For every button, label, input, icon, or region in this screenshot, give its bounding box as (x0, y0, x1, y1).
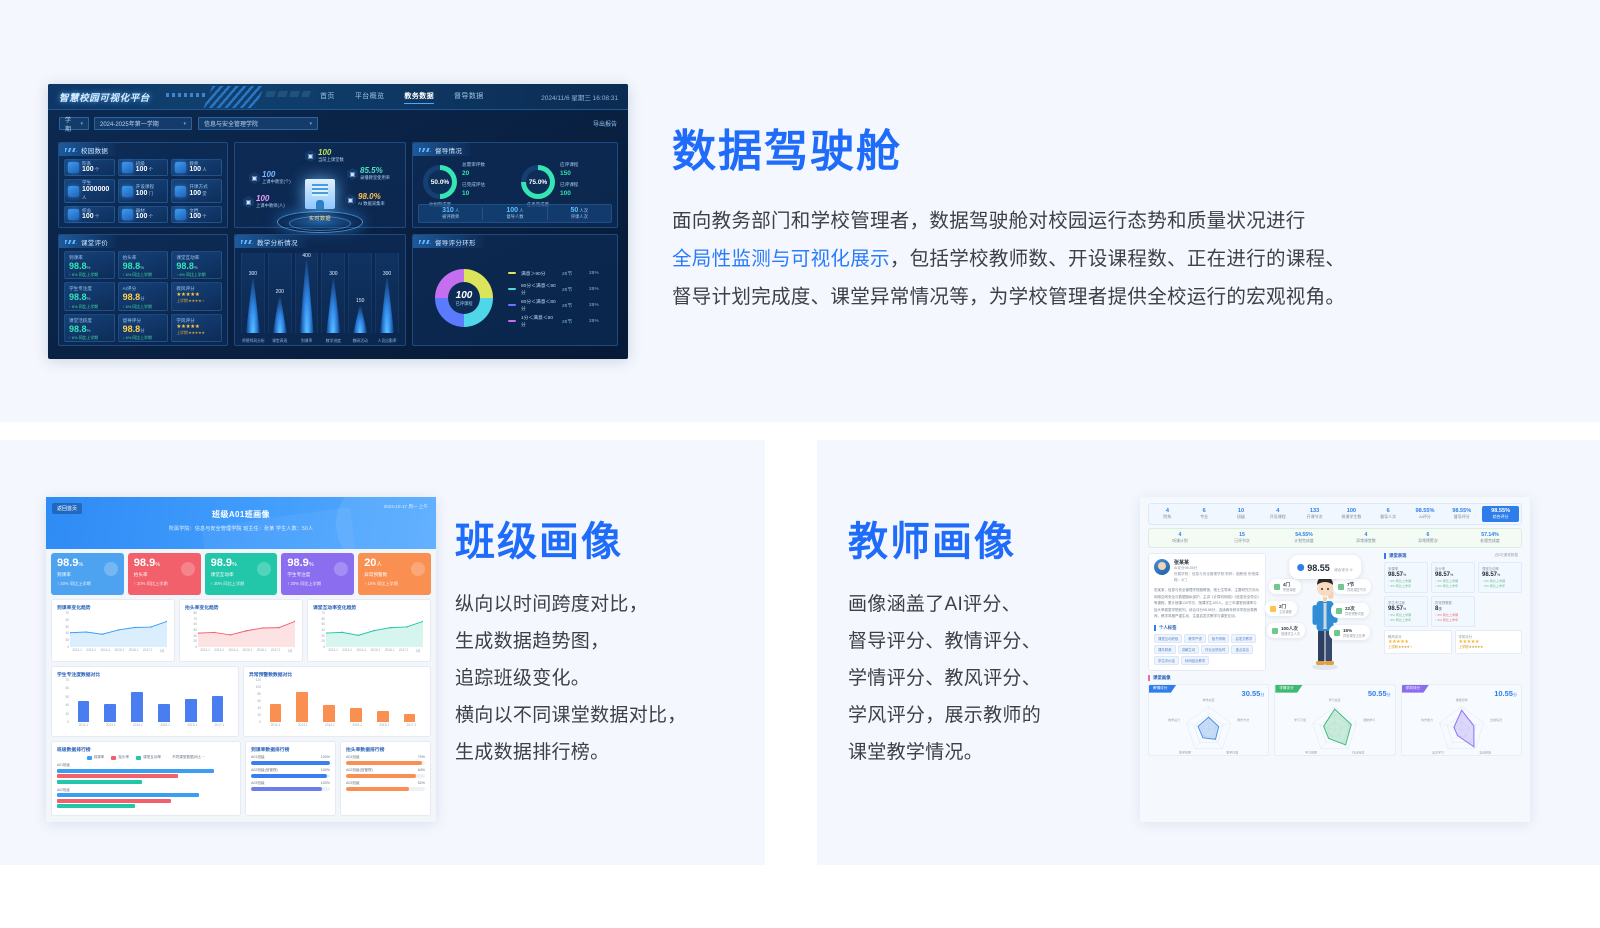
filter-label: 信息与安全管理学院 (204, 119, 258, 128)
progress-track[interactable] (346, 761, 425, 765)
previous-star-rating: 上学期 ★★★★★ (176, 330, 221, 336)
chip-label: 异常课堂占比率 (1343, 633, 1365, 638)
x-tick-label: 2014.1 (133, 723, 143, 727)
gauge-kv-key: 已评课程 (560, 182, 578, 189)
radar-card-row: 教情评分30.55分教学态度教学方法教学内容教学效果教学设计学情评分50.55分… (1148, 684, 1522, 756)
class-kpi-card: 98.9%学生专注度↑ 20% 同比上学期 (281, 553, 354, 595)
legend-name: 80分＜满意＜90分 (521, 282, 557, 296)
bar (212, 696, 224, 722)
y-tick-label: 70 (65, 611, 69, 615)
radar-card: 学风评分10.55分课堂纪律出勤情况互动积极自主学习协作能力 (1401, 684, 1522, 756)
stat-label: 处理完成度 (1459, 538, 1521, 544)
teacher-metric-card: 学生专注度98.57%↑ 5% 同比上学期↑ 5% 同比上学年 (1384, 596, 1428, 627)
metrics-subtitle: 近5次课堂数据 (1494, 553, 1522, 559)
metric-value: 98.57% (1388, 605, 1424, 613)
previous-star-rating: 上学期 ★★★★☆ (1388, 645, 1448, 650)
section-teacher-portrait-text: 教师画像 画像涵盖了AI评分、 督导评分、教情评分、 学情评分、教风评分、 学风… (848, 520, 1128, 771)
dashboard-nav-item[interactable]: 督导数据 (454, 91, 484, 104)
radar-card: 学情评分50.55分学习态度课堂参与作业完成学习效果学习习惯 (1274, 684, 1395, 756)
evaluation-value: 98.8% (176, 261, 221, 272)
y-axis: 70605040300 (57, 680, 70, 722)
hbar-group-label: A01班级 (57, 762, 235, 767)
campus-stat-unit: 人 (201, 167, 207, 172)
spike-bar (300, 260, 314, 333)
trend-icon (1336, 608, 1342, 614)
rank-chart-card: 班级数据排行榜到课率抬头率课堂互动率不同课堂数据对比 ···A01班级A02班级 (51, 741, 241, 816)
previous-star-rating: 上学期 ★★★★☆ (176, 298, 221, 304)
vertical-bar-chart: 1201008060402002012.12013.12014.12015.12… (249, 680, 425, 732)
realtime-tag-value: 100 (318, 149, 344, 157)
legend-swatch (111, 756, 116, 760)
x-tick-label: 2017.1 (143, 648, 153, 652)
metric-value: 98.57% (1482, 571, 1518, 579)
evaluation-value: 98.8% (69, 324, 114, 335)
delta-arrow: ↑ 6% 同比上学期 (69, 304, 98, 309)
teacher-portrait-screenshot: 4院系6专业10班级4开设课程133开课节次100授课学生数6督导人次98.55… (1140, 497, 1530, 822)
teacher-tag: 课堂互动积极 (1154, 634, 1182, 643)
supervision-stat: 310 人被评教师 (419, 207, 483, 220)
filter-select[interactable]: 学期▾ (59, 117, 89, 130)
y-tick-label: 40 (321, 628, 325, 632)
realtime-tag-label: 录播教室使用率 (360, 175, 390, 181)
chart-title: 班级数据排行榜 (57, 746, 235, 753)
evaluation-value: 98.8% (69, 261, 114, 272)
spike-value: 300 (383, 271, 391, 277)
y-tick-label: 40 (65, 631, 69, 635)
paragraph-line-1: 面向教务部门和学校管理者，数据驾驶舱对校园运行态势和质量状况进行 (672, 202, 1512, 240)
paragraph-line: 生成数据趋势图， (455, 623, 765, 660)
x-tick-label: 2014.1 (100, 648, 110, 652)
metric-card-grid: 到课率98.57%↑ 5% 同比上学期↑ 5% 同比上学年抬头率98.57%↑ … (1384, 562, 1522, 627)
campus-stat-unit: 个 (147, 167, 153, 172)
progress-percent: 100% (321, 781, 330, 786)
metric-delta-year: ↑ 5% 同比上学年 (1388, 584, 1424, 589)
donut-legend-row: 80分＜满意＜90分25节25% (508, 281, 611, 297)
bar-group (70, 682, 231, 722)
x-axis: 2012.12013.12014.12015.12016.12017.11月 (326, 648, 425, 657)
progress-track[interactable] (251, 761, 330, 765)
progress-track[interactable] (251, 787, 330, 791)
spike-column: 300教学进度 (321, 253, 345, 333)
teacher-center-visual: 98.55 综合评分 ① (1271, 553, 1379, 671)
gauge-kv: 应评课程150已评课程100 (560, 162, 578, 201)
progress-percent: 100% (321, 755, 330, 760)
y-tick-label: 30 (321, 634, 325, 638)
legend-item: 课堂互动率 (136, 755, 161, 760)
title-marker-icon (241, 240, 253, 244)
teacher-top-stat: 6督导人次 (1370, 508, 1407, 521)
metric-unit: % (1450, 573, 1453, 577)
spike-category: 到课率 (296, 339, 318, 344)
export-report-button[interactable]: 导出报告 (593, 119, 617, 128)
spike-value: 200 (276, 289, 284, 295)
gauge-kv-key: 已完成评估 (462, 182, 485, 189)
lock-icon: ▣ (345, 194, 356, 206)
realtime-tag-body: 85.5%录播教室使用率 (360, 167, 390, 181)
evaluation-delta: ↑ 6% 同比上学期 (176, 272, 221, 278)
score-badge: 98.55 综合评分 ① (1289, 555, 1361, 579)
progress-top: A02班级(信管院)64% (346, 768, 425, 773)
evaluation-delta: ↑ 6% 同比上学期 (123, 272, 168, 278)
chip-label: 异常课堂节次 (1347, 587, 1366, 592)
evaluation-stat-grid: 到课率98.8%↑ 6% 同比上学期抬头率98.8%↑ 6% 同比上学期课堂互动… (64, 251, 222, 341)
star-card-grid: 教风评分★★★★★上学期 ★★★★☆学风评分★★★★★上学期 ★★★★★ (1384, 630, 1522, 654)
y-tick-label: 50 (65, 695, 69, 699)
bar-slot (70, 682, 97, 722)
hbar (57, 804, 135, 808)
paragraph-line-2-rest: ，包括学校教师数、开设课程数、正在进行的课程、 (890, 248, 1345, 270)
y-tick-label: 50 (321, 622, 325, 626)
kpi-unit: % (232, 562, 237, 568)
panel-title: 教学分析情况 (235, 235, 306, 248)
campus-stat-value: 100 个 (189, 213, 206, 221)
stat-label: 授课学生数 (1333, 514, 1370, 520)
campus-stat-unit: 个 (94, 167, 100, 172)
gauge-wrap: 75.0%任务完成度应评课程150已评课程100 (515, 160, 613, 204)
delta-arrow: ↓ 6% 同比上学期 (123, 335, 152, 340)
chip-label: 异常预警次数 (1345, 611, 1364, 616)
realtime-label: 实时数据 (309, 215, 331, 222)
progress-top: A01班级70% (346, 755, 425, 760)
disc-icon (122, 209, 133, 220)
stat-label: 计划完成度 (1273, 538, 1335, 544)
teacher-top-stat: 6专业 (1186, 508, 1223, 521)
progress-row: A02班级(信管院)100% (251, 768, 330, 778)
bar-slot (316, 682, 343, 722)
title-marker-icon (419, 148, 431, 152)
realtime-tag-label: 上课中教师(人) (256, 203, 285, 209)
decor-dashes (166, 93, 206, 97)
gauge-percent: 50.0% (431, 179, 449, 186)
svg-text:教学设计: 教学设计 (1168, 716, 1180, 721)
x-tick-label: 2012.1 (200, 648, 210, 652)
chip-label: 授课学生人次 (1281, 631, 1300, 636)
kpi-delta: ↑ 20% 同比上学期 (211, 581, 278, 587)
y-tick-label: 70 (65, 678, 69, 682)
filter-select[interactable]: 2024-2025年第一学期▾ (94, 117, 192, 130)
x-tick-label: 2015.1 (371, 648, 381, 652)
score-label: 综合评分 ① (1334, 568, 1353, 572)
gauge-ring: 50.0%计划完成度 (423, 165, 457, 199)
supervision-stat-value: 50 人次 (548, 207, 611, 214)
radar-chart: 学习态度课堂参与作业完成学习效果学习习惯 (1275, 697, 1394, 756)
progress-fill (346, 761, 422, 765)
x-tick-label: 2016.1 (379, 723, 389, 727)
x-tick-label: 2014.1 (356, 648, 366, 652)
teacher-metric-card: 到课率98.57%↑ 5% 同比上学期↑ 5% 同比上学年 (1384, 562, 1428, 593)
progress-top: A03班级52% (346, 781, 425, 786)
teacher-top-stat: 98.55%督导评分 (1443, 508, 1480, 521)
chart-title: 异常预警数数据对比 (249, 671, 425, 678)
dashboard-nav[interactable]: 首页平台概览教务数据督导数据 (320, 91, 484, 104)
x-tick-label: 2017.1 (407, 723, 417, 727)
dashboard-filter-bar[interactable]: 导出报告 学期▾2024-2025年第一学期▾信息与安全管理学院▾ (48, 110, 628, 136)
x-tick-label: 2016.1 (385, 648, 395, 652)
progress-row: A01班级100% (251, 755, 330, 765)
teacher-name: 张某某 (1174, 559, 1260, 566)
teacher-star-card: 教风评分★★★★★上学期 ★★★★☆ (1384, 630, 1452, 654)
dashboard-nav-item[interactable]: 教务数据 (404, 91, 434, 104)
y-tick-label: 20 (257, 713, 261, 717)
bar (104, 704, 116, 722)
campus-stat-value: 100 人 (189, 166, 206, 174)
hbar (57, 774, 178, 778)
panel-title-text: 校园数据 (81, 145, 108, 155)
chevron-down-icon: ▾ (309, 121, 312, 127)
chart-title: 到课率变化趋势 (57, 604, 169, 611)
teacher-top-stat-secondary: 4异常课堂数 (1335, 532, 1397, 544)
stat-label: 班级 (1223, 514, 1260, 520)
spike-value: 300 (329, 271, 337, 277)
campus-stat-text: 校舍100 个 (82, 208, 99, 221)
previous-star-rating: 上学期 ★★★★★ (1459, 645, 1519, 650)
chip-value: 100人次 (1281, 626, 1300, 631)
teacher-tag: 作业反馈及时 (1201, 645, 1229, 654)
teacher-top-stat: 4院系 (1149, 508, 1186, 521)
bar-group (262, 682, 423, 722)
gauge-wrap: 50.0%计划完成度总需审评数20已完成评估10 (417, 160, 515, 204)
x-tick-label: 2013.1 (342, 648, 352, 652)
chip-body: 15%异常课堂占比率 (1343, 628, 1365, 638)
donut-legend-row: 60分＜满意＜80分25节25% (508, 297, 611, 313)
donut-center-label: 100已评课程 (435, 269, 493, 327)
y-tick-label: 50 (193, 628, 197, 632)
pulse-icon (411, 562, 425, 576)
gauge-kv-value: 150 (560, 169, 578, 179)
radar-chart: 课堂纪律出勤情况互动积极自主学习协作能力 (1402, 697, 1521, 756)
supervision-stat-unit: 人 (454, 208, 460, 213)
evaluation-cell: 抬头率98.8%↑ 6% 同比上学期 (118, 251, 169, 279)
teacher-tag: 启发式教学 (1231, 634, 1256, 643)
legend-percent: 25% (589, 271, 611, 276)
stat-label: 听课计划 (1149, 538, 1211, 544)
chart-title: 抬头率变化趋势 (185, 604, 297, 611)
x-tick-label: 2016.1 (129, 648, 139, 652)
evaluation-delta: ↓ 6% 同比上学期 (123, 335, 168, 341)
y-tick-label: 30 (193, 639, 197, 643)
section-3-title: 教师画像 (848, 520, 1128, 564)
progress-row: A02班级(信管院)64% (346, 768, 425, 778)
y-tick-label: 40 (257, 706, 261, 710)
bar-slot (204, 682, 231, 722)
realtime-tag-body: 100上课中教师(人) (256, 195, 285, 209)
plot-area (70, 682, 231, 722)
chevron-down-icon: ▾ (80, 121, 83, 127)
stat-label: AI评分 (1407, 514, 1444, 520)
chart-title: 课堂互动率变化趋势 (313, 604, 425, 611)
kpi-delta: ↑ 20% 同比上学期 (287, 581, 354, 587)
teacher-icon (175, 162, 186, 173)
line-area-chart: 706050403002012.12013.12014.12015.12016.… (57, 613, 169, 657)
section-1-title: 数据驾驶舱 (672, 128, 1512, 176)
teacher-metric-chip: 4门所授课程 (1269, 579, 1301, 594)
teacher-top-stat-secondary: 57.14%处理完成度 (1459, 532, 1521, 544)
y-axis: 8070605040300 (185, 613, 198, 647)
gauge-kv-key: 总需审评数 (462, 162, 485, 169)
spike-bar-chart: 300师德师风分析200课堂表现400到课率300教学进度150教研活动300人… (241, 253, 399, 333)
y-tick-label: 30 (65, 712, 69, 716)
class-bar-row: 学生专注度数据对比706050403002012.12013.12014.120… (46, 662, 436, 737)
section-class-portrait-text: 班级画像 纵向以时间跨度对比， 生成数据趋势图， 追踪班级变化。 横向以不同课堂… (455, 520, 765, 771)
stat-label: 已评节次 (1211, 538, 1273, 544)
bar-slot (177, 682, 204, 722)
lock-icon: ▣ (305, 150, 316, 162)
realtime-tag-body: 100当前上课堂数 (318, 149, 344, 163)
svg-text:作业完成: 作业完成 (1353, 749, 1365, 754)
campus-stat-value: 1000000 人 (82, 186, 114, 202)
supervision-stat-value: 100 人 (483, 207, 546, 214)
section-3-paragraph: 画像涵盖了AI评分、 督导评分、教情评分、 学情评分、教风评分、 学风评分，展示… (848, 586, 1128, 771)
stat-label: 专业 (1186, 514, 1223, 520)
stat-label: 开课节次 (1296, 514, 1333, 520)
class-kpi-card: 20人异常预警数↑ 10% 同比上学期 (358, 553, 431, 595)
evaluation-unit: 分 (140, 296, 144, 301)
teacher-metric-chip: 7节异常课堂节次 (1333, 579, 1371, 594)
progress-label: A02班级(信管院) (346, 768, 373, 773)
delta-arrow: ↑ 6% 同比上学期 (69, 335, 98, 340)
x-tick-label: 2012.1 (72, 648, 82, 652)
progress-track[interactable] (346, 774, 425, 778)
legend-swatch (87, 756, 92, 760)
trend-icon (1274, 584, 1280, 590)
legend-percent: 25% (589, 287, 611, 292)
realtime-tag: ▣98.0%AI 数据采集率 (345, 193, 385, 207)
x-tick-label: 2014.1 (228, 648, 238, 652)
teacher-star-card: 学风评分★★★★★上学期 ★★★★★ (1455, 630, 1523, 654)
filter-select[interactable]: 信息与安全管理学院▾ (198, 117, 318, 130)
realtime-tag-value: 98.0% (358, 193, 385, 201)
trend-chart-card: 到课率变化趋势706050403002012.12013.12014.12015… (51, 599, 175, 662)
legend-label: 到课率 (94, 755, 105, 760)
chip-label: 主讲课程 (1279, 609, 1292, 614)
progress-label: A01班级 (346, 755, 360, 760)
evaluation-value: 98.8% (69, 292, 114, 303)
hbar (57, 769, 214, 773)
evaluation-value: 98.8分 (123, 292, 168, 303)
campus-stat-value: 100 门 (136, 190, 154, 198)
metric-delta-year: ↑ 5% 同比上学年 (1435, 584, 1471, 589)
profile-header: 张某某 AI评分98.55分 所属学院：信息与安全管理学院 职称：副教授 所授课… (1154, 559, 1260, 583)
evaluation-cell: AI评分98.8分↑ 6% 同比上学期 (118, 282, 169, 310)
evaluation-delta: ↑ 6% 同比上学期 (69, 304, 114, 310)
stat-label: 综合评分 (1482, 514, 1519, 520)
gauge-hole: 75.0% (526, 170, 550, 194)
x-tick-label: 2017.1 (399, 648, 409, 652)
progress-fill (251, 787, 322, 791)
dashboard-nav-item[interactable]: 平台概览 (355, 91, 385, 104)
stat-label: 开设课程 (1259, 514, 1296, 520)
spike-category: 教学进度 (322, 339, 344, 344)
paragraph-line: 生成数据排行榜。 (455, 734, 765, 771)
svg-text:协作能力: 协作能力 (1421, 716, 1433, 721)
chip-body: 22次异常预警次数 (1345, 606, 1364, 616)
y-tick-label: 60 (257, 699, 261, 703)
evaluation-cell: 到课率98.8%↑ 6% 同比上学期 (64, 251, 115, 279)
teacher-top-stat-secondary: 4听课计划 (1149, 532, 1211, 544)
metric-unit: 次 (1438, 607, 1442, 611)
bar-slot (342, 682, 369, 722)
panel-class-evaluation: 课堂评价 到课率98.8%↑ 6% 同比上学期抬头率98.8%↑ 6% 同比上学… (58, 234, 228, 346)
paragraph-line: 学风评分，展示教师的 (848, 697, 1128, 734)
y-tick-label: 70 (321, 611, 325, 615)
progress-track[interactable] (346, 787, 425, 791)
stat-label: 督导评分 (1443, 514, 1480, 520)
teacher-top-stats-secondary: 4听课计划15已评节次54.55%计划完成度4异常课堂数6异常预警次57.14%… (1148, 528, 1522, 548)
teacher-meta-2: 所属学院：信息与安全管理学院 职称：副教授 所授课程：4门 (1174, 572, 1260, 584)
x-tick-label: 1月 (415, 648, 420, 653)
class-kpi-row: 98.9%到课率↑ 20% 同比上学期98.9%抬头率↑ 20% 同比上学期98… (46, 549, 436, 595)
legend-label: 抬头率 (118, 755, 129, 760)
teacher-tag: 课件精美 (1154, 645, 1176, 654)
metric-unit: % (1403, 573, 1406, 577)
class-portrait-screenshot: 返回首页 班级A01班画像 所属学院：信息与安全管理学院 班主任：张某 学生人数… (46, 497, 436, 822)
class-hero-date: 2024-10-17 周一 上午 (384, 504, 428, 510)
radar-flag: 学情评分 (1275, 685, 1302, 693)
teacher-top-stat: 133开课节次 (1296, 508, 1333, 521)
paragraph-line: 学情评分、教风评分、 (848, 660, 1128, 697)
book-icon (122, 186, 133, 197)
realtime-tag-value: 85.5% (360, 167, 390, 175)
box-icon (122, 162, 133, 173)
tag-section-title: 个人标签 (1154, 625, 1260, 631)
campus-stat-value: 100 堂 (189, 190, 207, 198)
x-tick-label: 2017.1 (271, 648, 281, 652)
kpi-unit: 人 (376, 562, 382, 568)
supervision-stat-label: 被评教师 (419, 214, 482, 220)
vertical-bar-chart: 706050403002012.12013.12014.12015.12016.… (57, 680, 233, 732)
column-gap (765, 440, 817, 865)
gauge-kv-value: 10 (462, 189, 485, 199)
spike-bar (273, 297, 287, 333)
legend-count: 25节 (562, 270, 584, 277)
radar-flag: 学风评分 (1402, 685, 1429, 693)
x-tick-label: 2015.1 (160, 723, 170, 727)
campus-stat-cell: 学生1000000 人 (64, 179, 115, 202)
delta-arrow: ↑ 6% 同比上学期 (123, 272, 152, 277)
stat-label: 异常预警次 (1397, 538, 1459, 544)
legend-name: 1分＜满意＜60分 (521, 314, 557, 328)
supervision-stat-value: 310 人 (419, 207, 482, 214)
svg-text:学习效果: 学习效果 (1305, 749, 1317, 754)
y-tick-label: 40 (193, 634, 197, 638)
evaluation-unit: % (87, 265, 91, 270)
chip-body: 7节异常课堂节次 (1347, 582, 1366, 592)
teacher-tag: 讲解生动 (1178, 645, 1200, 654)
student-icon (68, 186, 79, 197)
radar-card: 教情评分30.55分教学态度教学方法教学内容教学效果教学设计 (1148, 684, 1269, 756)
chip-body: 100人次授课学生人次 (1281, 626, 1300, 636)
x-tick-label: 2012.1 (328, 648, 338, 652)
y-tick-label: 30 (65, 638, 69, 642)
dashboard-nav-item[interactable]: 首页 (320, 91, 335, 104)
bar (296, 692, 308, 722)
progress-track[interactable] (251, 774, 330, 778)
panel-score-donut: 督导评分环形 100已评课程 满意＞90分25节25%80分＜满意＜90分25节… (412, 234, 618, 346)
supervision-stat-label: 评课人次 (548, 214, 611, 220)
progress-fill (251, 774, 327, 778)
bar-slot (369, 682, 396, 722)
panel-realtime-visual: 实时数据 ▣100当前上课堂数▣100上课中教室(个)▣100上课中教师(人)▣… (234, 142, 406, 228)
y-tick-label: 60 (193, 622, 197, 626)
x-tick-label: 2013.1 (298, 723, 308, 727)
radar-section-title: 课堂画像 (1148, 675, 1522, 681)
campus-stat-text: 开设课程100 门 (136, 184, 154, 197)
plot-area (70, 615, 167, 647)
campus-stat-unit: 堂 (201, 191, 207, 196)
progress-top: A03班级100% (251, 781, 330, 786)
decor-slashes-2 (265, 91, 311, 97)
section-2-paragraph: 纵向以时间跨度对比， 生成数据趋势图， 追踪班级变化。 横向以不同课堂数据对比，… (455, 586, 765, 771)
